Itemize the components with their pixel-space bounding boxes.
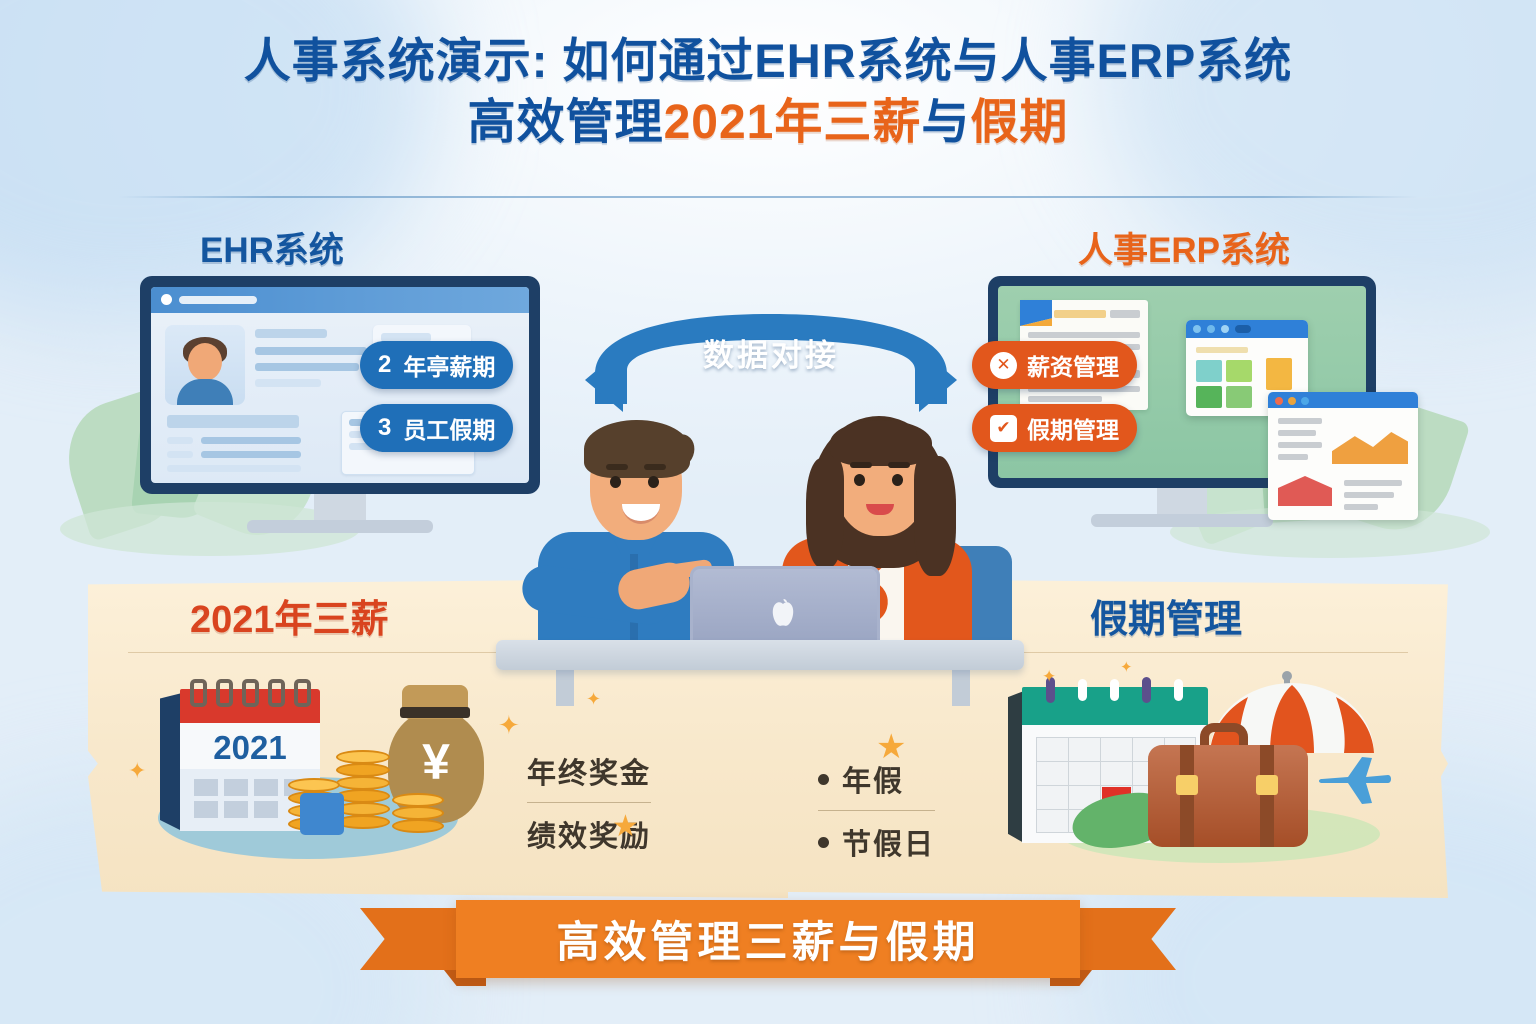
sparkle-icon: ✦ <box>586 690 601 708</box>
title-divider <box>118 196 1418 198</box>
title-line-1: 人事系统演示: 如何通过EHR系统与人事ERP系统 <box>0 34 1536 88</box>
ribbon-label: 高效管理三薪与假期 <box>557 908 980 970</box>
calendar-year-text: 2021 <box>180 729 320 767</box>
yuan-symbol: ¥ <box>388 737 484 787</box>
erp-monitor-base <box>1091 514 1273 527</box>
profile-field-bar <box>255 379 321 387</box>
ehr-badge-1[interactable]: 2 年亭薪期 <box>360 341 513 389</box>
sparkle-icon: ✦ <box>1042 668 1056 685</box>
analytics-window-titlebar <box>1268 392 1418 408</box>
bar-chart-shape <box>1278 476 1332 506</box>
badge-number: 2 <box>378 351 391 379</box>
airplane-icon <box>1318 753 1394 809</box>
erp-window-titlebar <box>1186 320 1308 338</box>
salary-panel-title: 2021年三薪 <box>190 588 389 643</box>
erp-analytics-window <box>1268 392 1418 520</box>
badge-label: 年亭薪期 <box>403 348 495 382</box>
profile-field-bar <box>255 329 327 338</box>
salary-item-list: 年终奖金 绩效奖励 <box>527 740 651 865</box>
title-line2-highlight: 2021年三薪 <box>664 96 922 149</box>
sparkle-icon: ✦ <box>498 712 520 738</box>
avatar-body <box>177 379 233 405</box>
salary-illustration: 2021 ¥ <box>140 665 510 880</box>
profile-row-bar <box>167 437 193 444</box>
profile-row-bar <box>201 437 301 444</box>
coin-stack-short <box>392 785 444 833</box>
title-line-2: 高效管理2021年三薪与假期 <box>0 96 1536 151</box>
sparkle-icon: ✦ <box>128 760 146 782</box>
badge-label: 假期管理 <box>1027 411 1119 445</box>
ehr-badge-2[interactable]: 3 员工假期 <box>360 404 513 452</box>
avatar-head <box>188 343 222 381</box>
apple-logo-icon <box>768 598 798 630</box>
title-line2-suffix: 假期 <box>970 96 1068 149</box>
bullet-icon <box>818 774 829 785</box>
title-line2-prefix: 高效管理 <box>468 96 664 149</box>
erp-tile <box>1226 360 1252 382</box>
erp-badge-2[interactable]: ✔ 假期管理 <box>972 404 1137 452</box>
profile-row-bar <box>167 415 299 428</box>
area-chart-shape <box>1332 430 1408 464</box>
holiday-panel-title: 假期管理 <box>1090 588 1242 643</box>
arrow-label: 数据对接 <box>583 330 959 375</box>
suitcase <box>1148 723 1308 847</box>
profile-field-bar <box>255 363 359 371</box>
badge-number: 3 <box>378 414 391 442</box>
employee-avatar <box>165 325 245 405</box>
holiday-item-list: 年假 节假日 <box>818 748 935 873</box>
window-dot <box>1235 325 1251 333</box>
blue-block <box>300 793 344 835</box>
window-dot-min <box>1288 397 1296 405</box>
erp-tile <box>1196 360 1222 382</box>
erp-system-label: 人事ERP系统 <box>1078 222 1290 273</box>
ribbon-banner: 高效管理三薪与假期 <box>456 900 1080 978</box>
coin-stack-tall <box>336 731 390 829</box>
profile-row-bar <box>167 451 193 458</box>
list-item-label: 年终奖金 <box>527 750 651 792</box>
ehr-address-pill <box>179 296 257 304</box>
bottom-ribbon: 高效管理三薪与假期 <box>360 900 1176 978</box>
badge-label: 员工假期 <box>403 411 495 445</box>
bullet-icon <box>818 837 829 848</box>
ehr-monitor-base <box>247 520 433 533</box>
sparkle-icon: ★ <box>612 812 639 842</box>
desk-surface <box>496 640 1024 670</box>
window-dot-close <box>1275 397 1283 405</box>
sparkle-icon: ✦ <box>1120 660 1133 675</box>
list-item-label: 节假日 <box>842 821 935 863</box>
sparkle-icon: ★ <box>876 730 906 764</box>
window-dot <box>1207 325 1215 333</box>
ribbon-tail-right <box>1064 908 1176 970</box>
profile-field-bar <box>255 347 367 355</box>
check-square-icon: ✔ <box>990 415 1017 442</box>
window-dot-max <box>1301 397 1309 405</box>
list-item: 节假日 <box>818 810 935 873</box>
page-title: 人事系统演示: 如何通过EHR系统与人事ERP系统 高效管理2021年三薪与假期 <box>0 34 1536 150</box>
profile-row-bar <box>201 451 301 458</box>
title-line2-mid: 与 <box>921 96 970 149</box>
erp-badge-1[interactable]: ✕ 薪资管理 <box>972 341 1137 389</box>
erp-tile <box>1266 358 1292 390</box>
infographic-canvas: 人事系统演示: 如何通过EHR系统与人事ERP系统 高效管理2021年三薪与假期… <box>0 0 1536 1024</box>
erp-monitor-neck <box>1157 488 1207 514</box>
ehr-window-dot <box>161 294 172 305</box>
list-item: 年终奖金 <box>527 740 651 802</box>
holiday-illustration <box>1000 665 1400 880</box>
window-dot <box>1221 325 1229 333</box>
window-dot <box>1193 325 1201 333</box>
erp-tile <box>1196 386 1222 408</box>
ehr-system-label: EHR系统 <box>200 222 344 273</box>
profile-row-bar <box>167 465 301 472</box>
erp-tile <box>1226 386 1252 408</box>
badge-label: 薪资管理 <box>1027 348 1119 382</box>
ehr-monitor-neck <box>314 494 366 520</box>
x-circle-icon: ✕ <box>990 352 1017 379</box>
